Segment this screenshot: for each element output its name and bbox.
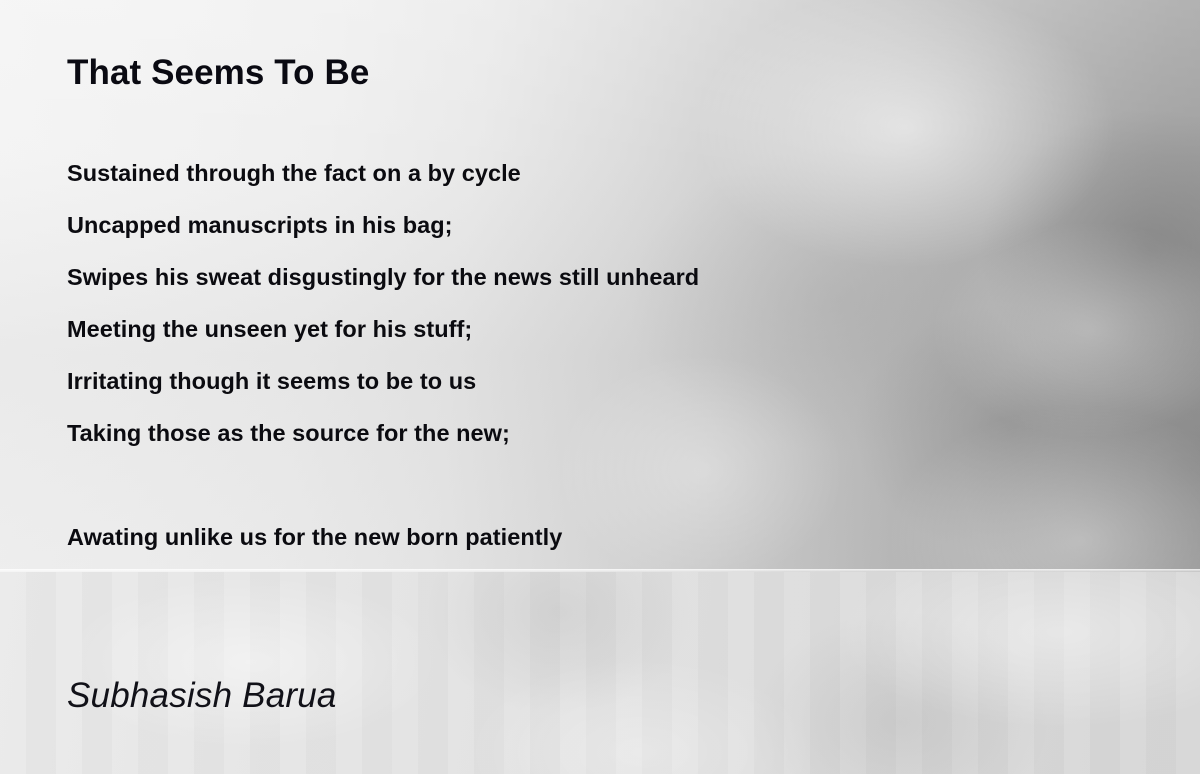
poem-line: Taking those as the source for the new; [67,418,1117,470]
page-title: That Seems To Be [67,53,369,93]
poem-line: Awating unlike us for the new born patie… [67,522,1117,574]
poem-line: Swipes his sweat disgustingly for the ne… [67,262,1117,314]
poem-line: Meeting the unseen yet for his stuff; [67,314,1117,366]
poem-body: Sustained through the fact on a by cycle… [67,158,1117,574]
poem-line-spacer [67,470,1117,522]
poem-content: That Seems To Be Sustained through the f… [0,0,1200,774]
poem-line: Sustained through the fact on a by cycle [67,158,1117,210]
poem-image-card: That Seems To Be Sustained through the f… [0,0,1200,774]
poem-line: Uncapped manuscripts in his bag; [67,210,1117,262]
poem-line: Irritating though it seems to be to us [67,366,1117,418]
poet-name: Subhasish Barua [67,676,337,716]
